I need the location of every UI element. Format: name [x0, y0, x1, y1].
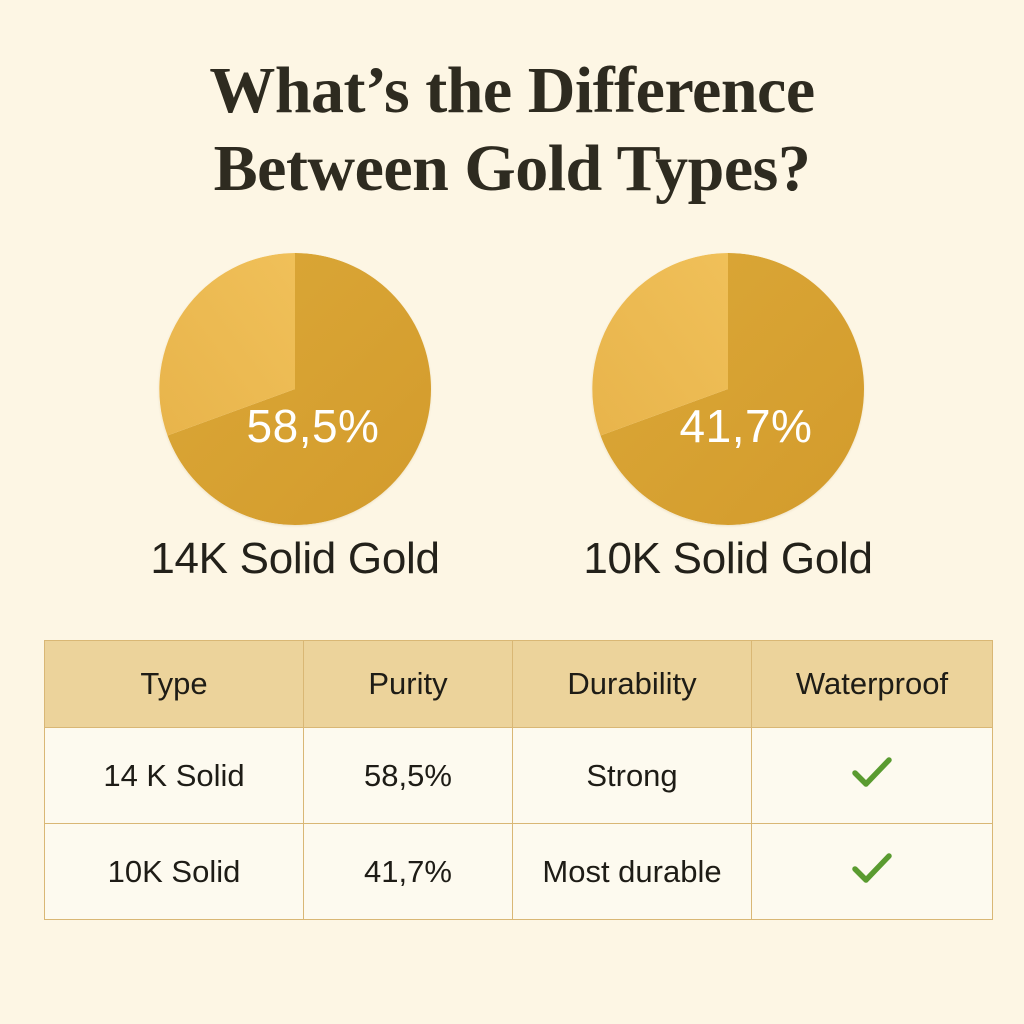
- checkmark-icon: [850, 754, 894, 790]
- cell-waterproof-10k: [752, 824, 993, 920]
- gold-types-infographic: What’s the Difference Between Gold Types…: [0, 0, 1024, 1024]
- pie-14k-graphic: 58,5%: [159, 253, 431, 525]
- cell-purity-10k: 41,7%: [304, 824, 513, 920]
- title-line-1: What’s the Difference: [0, 52, 1024, 130]
- table-header-row: Type Purity Durability Waterproof: [45, 641, 993, 728]
- column-header-waterproof: Waterproof: [752, 641, 993, 728]
- column-header-purity: Purity: [304, 641, 513, 728]
- cell-durability-14k: Strong: [513, 728, 752, 824]
- checkmark-svg: [850, 754, 894, 790]
- column-header-durability: Durability: [513, 641, 752, 728]
- pie-10k-graphic: 41,7%: [592, 253, 864, 525]
- pie-chart-14k: 58,5% 14K Solid Gold: [159, 253, 431, 525]
- cell-type-10k: 10K Solid: [45, 824, 304, 920]
- pie-chart-10k: 41,7% 10K Solid Gold: [592, 253, 864, 525]
- cell-durability-10k: Most durable: [513, 824, 752, 920]
- page-title: What’s the Difference Between Gold Types…: [0, 52, 1024, 208]
- pie-10k-caption: 10K Solid Gold: [536, 534, 920, 584]
- cell-waterproof-14k: [752, 728, 993, 824]
- pie-10k-svg: [592, 253, 864, 525]
- gold-comparison-table: Type Purity Durability Waterproof 14 K S…: [44, 640, 993, 920]
- cell-type-14k: 14 K Solid: [45, 728, 304, 824]
- title-line-2: Between Gold Types?: [0, 130, 1024, 208]
- pie-14k-caption: 14K Solid Gold: [103, 534, 487, 584]
- table-header: Type Purity Durability Waterproof: [45, 641, 993, 728]
- checkmark-icon: [850, 850, 894, 886]
- checkmark-svg: [850, 850, 894, 886]
- column-header-type: Type: [45, 641, 304, 728]
- table-row: 10K Solid 41,7% Most durable: [45, 824, 993, 920]
- table-row: 14 K Solid 58,5% Strong: [45, 728, 993, 824]
- table-body: 14 K Solid 58,5% Strong 10K Solid 41,7% …: [45, 728, 993, 920]
- pie-14k-svg: [159, 253, 431, 525]
- cell-purity-14k: 58,5%: [304, 728, 513, 824]
- pie-chart-group: 58,5% 14K Solid Gold: [0, 253, 1024, 528]
